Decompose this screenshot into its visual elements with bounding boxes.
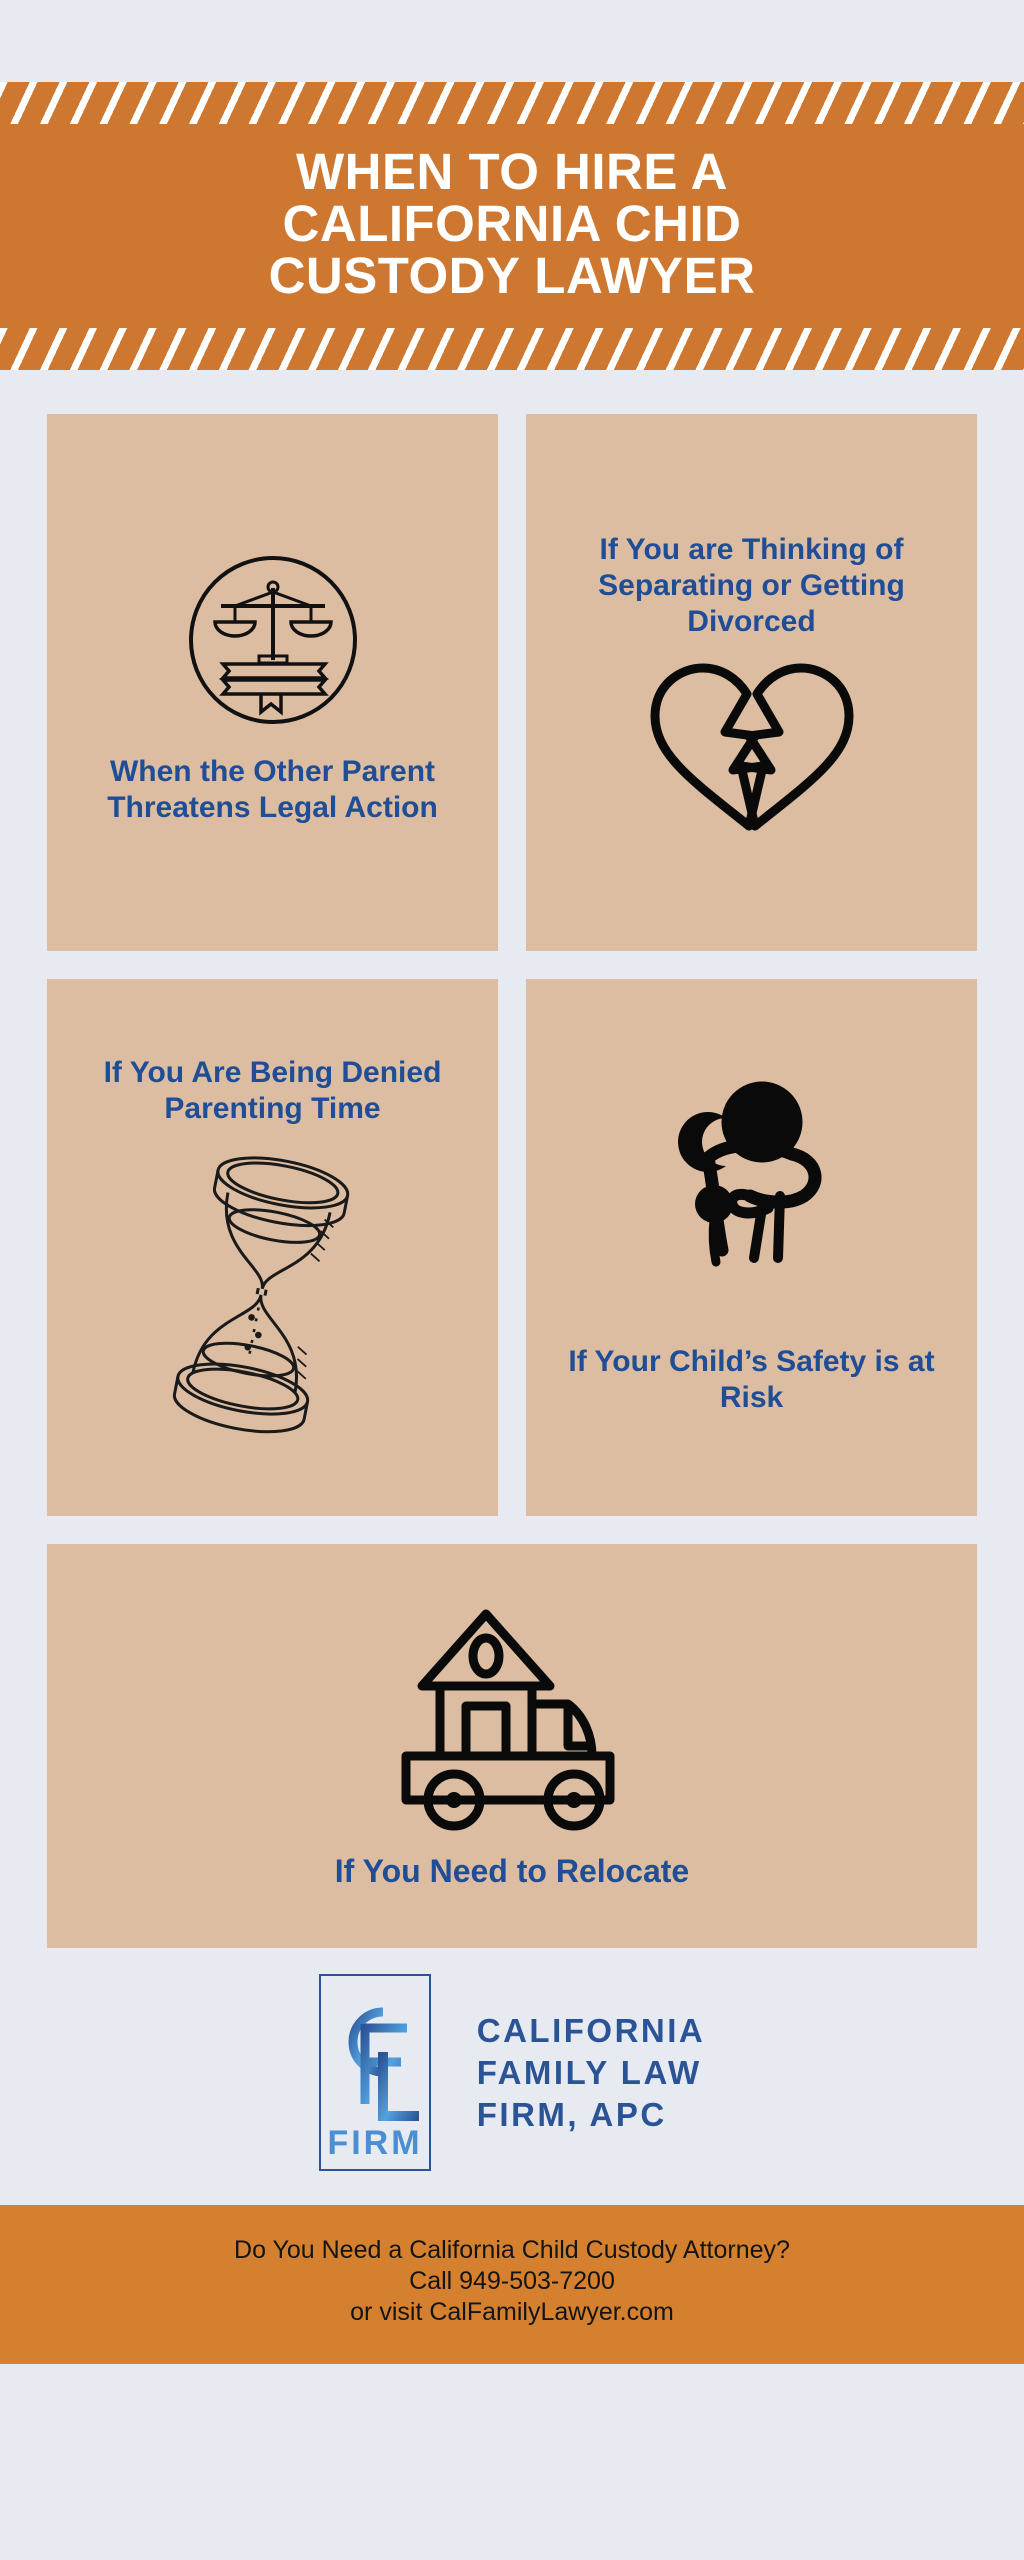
card-label: If You are Thinking of Separating or Get… [542,532,961,640]
card-label: If You Are Being Denied Parenting Time [63,1055,482,1127]
card-denied-parenting-time[interactable]: If You Are Being Denied Parenting Time [47,979,498,1516]
bottom-diagonal-stripe-pattern [0,328,1024,370]
house-on-moving-truck-icon [362,1604,662,1839]
cfl-monogram-logo: FIRM [319,1974,431,2171]
firm-name-line-1: CALIFORNIA [477,2010,705,2052]
header-banner: WHEN TO HIRE A CALIFORNIA CHID CUSTODY L… [0,82,1024,370]
card-label: If Your Child’s Safety is at Risk [542,1344,961,1416]
footer-contact-text: Do You Need a California Child Custody A… [0,2235,1024,2328]
page-title: WHEN TO HIRE A CALIFORNIA CHID CUSTODY L… [0,124,1024,328]
hourglass-icon [158,1141,388,1441]
footer-cta-band: Do You Need a California Child Custody A… [0,2205,1024,2364]
footer-line-2: Call 949-503-7200 [0,2266,1024,2297]
title-line-2: CALIFORNIA CHID [70,198,954,250]
firm-logo-block: FIRM CALIFORNIA FAMILY LAW FIRM, APC [47,1974,977,2205]
top-diagonal-stripe-pattern [0,82,1024,124]
broken-heart-icon [637,654,867,834]
reasons-card-grid: When the Other Parent Threatens Legal Ac… [47,370,977,1948]
firm-name-line-2: FAMILY LAW [477,2052,705,2094]
card-label: When the Other Parent Threatens Legal Ac… [63,754,482,826]
card-need-to-relocate[interactable]: If You Need to Relocate [47,1544,977,1948]
footer-line-1: Do You Need a California Child Custody A… [0,2235,1024,2266]
firm-name-line-3: FIRM, APC [477,2094,705,2136]
card-threatens-legal-action[interactable]: When the Other Parent Threatens Legal Ac… [47,414,498,951]
card-child-safety-risk[interactable]: If Your Child’s Safety is at Risk [526,979,977,1516]
card-separating-or-divorce[interactable]: If You are Thinking of Separating or Get… [526,414,977,951]
firm-name: CALIFORNIA FAMILY LAW FIRM, APC [477,2010,705,2136]
title-line-3: CUSTODY LAWYER [70,250,954,302]
card-label: If You Need to Relocate [325,1853,699,1889]
title-line-1: WHEN TO HIRE A [70,146,954,198]
infographic-page: WHEN TO HIRE A CALIFORNIA CHID CUSTODY L… [0,0,1024,2560]
parent-hugging-child-icon [642,1080,862,1330]
svg-text:FIRM: FIRM [327,2124,422,2162]
footer-line-3[interactable]: or visit CalFamilyLawyer.com [0,2297,1024,2328]
scales-of-justice-on-books-icon [173,540,373,740]
